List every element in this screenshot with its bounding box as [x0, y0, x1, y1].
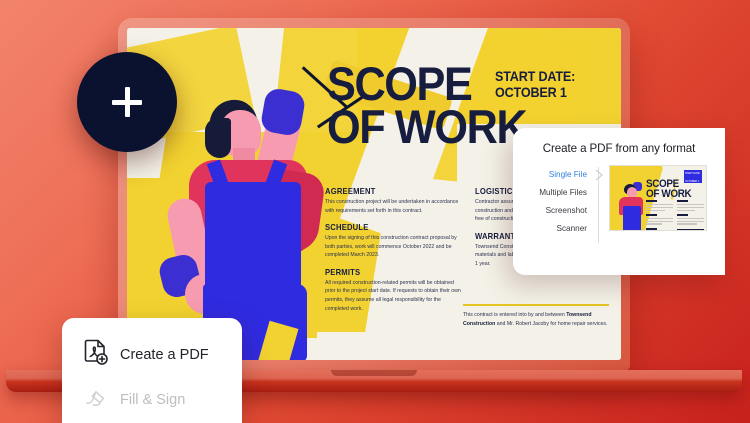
- thumb-body-columns: [646, 200, 704, 231]
- worker-hair: [205, 118, 231, 158]
- option-multiple-files[interactable]: Multiple Files: [513, 183, 593, 201]
- poster-divider-rule: [463, 304, 609, 306]
- action-menu-card: Create a PDF Fill & Sign: [62, 318, 242, 423]
- menu-item-label: Create a PDF: [120, 347, 209, 363]
- preview-pane: START DATE: OCTOBER 1 SCOPE OF WORK: [599, 165, 725, 237]
- thumb-worker-illustration: [614, 182, 648, 231]
- chevron-right-icon: [595, 169, 603, 181]
- section-body: This construction project will be undert…: [325, 198, 461, 215]
- poster-left-column: AGREEMENT This construction project will…: [325, 186, 461, 320]
- thumb-worker-overalls: [623, 206, 641, 231]
- format-option-list: Single File Multiple Files Screenshot Sc…: [513, 165, 599, 237]
- worker-overalls: [205, 182, 301, 300]
- thumb-headline: SCOPE OF WORK: [646, 180, 691, 200]
- popup-body: Single File Multiple Files Screenshot Sc…: [513, 165, 725, 237]
- menu-item-label: Fill & Sign: [120, 392, 185, 408]
- thumb-column: [646, 200, 673, 231]
- popup-title: Create a PDF from any format: [513, 142, 725, 155]
- laptop-trackpad-notch: [331, 370, 417, 376]
- thumb-badge-line-1: START DATE:: [684, 170, 702, 178]
- section-body: Upon the signing of this construction co…: [325, 234, 461, 260]
- headline-line-2: OF WORK: [327, 105, 526, 148]
- poster-start-date: START DATE: OCTOBER 1: [495, 68, 575, 100]
- section-heading: AGREEMENT: [325, 186, 447, 196]
- menu-item-create-a-pdf[interactable]: Create a PDF: [62, 332, 242, 377]
- section-heading: SCHEDULE: [325, 222, 447, 232]
- poster-footer-text: This contract is entered into by and bet…: [463, 311, 609, 328]
- signature-pen-icon: [84, 384, 108, 415]
- pdf-document-plus-icon: [84, 339, 108, 370]
- section-heading: PERMITS: [325, 267, 447, 277]
- start-date-value: OCTOBER 1: [495, 84, 575, 100]
- footer-suffix: and Mr. Robert Jacoby for home repair se…: [495, 321, 607, 327]
- option-single-file[interactable]: Single File: [513, 165, 593, 183]
- menu-item-fill-and-sign[interactable]: Fill & Sign: [62, 377, 242, 422]
- section-body: All required construction-related permit…: [325, 279, 461, 313]
- footer-prefix: This contract is entered into by and bet…: [463, 312, 566, 318]
- start-date-label: START DATE:: [495, 68, 575, 84]
- thumb-headline-line-2: OF WORK: [646, 190, 691, 200]
- option-screenshot[interactable]: Screenshot: [513, 201, 593, 219]
- create-pdf-popup: Create a PDF from any format Single File…: [513, 128, 725, 275]
- thumb-column: [677, 200, 704, 231]
- option-scanner[interactable]: Scanner: [513, 219, 593, 237]
- plus-icon: [125, 87, 130, 117]
- add-button[interactable]: [77, 52, 177, 152]
- pdf-preview-thumbnail[interactable]: START DATE: OCTOBER 1 SCOPE OF WORK: [609, 165, 707, 231]
